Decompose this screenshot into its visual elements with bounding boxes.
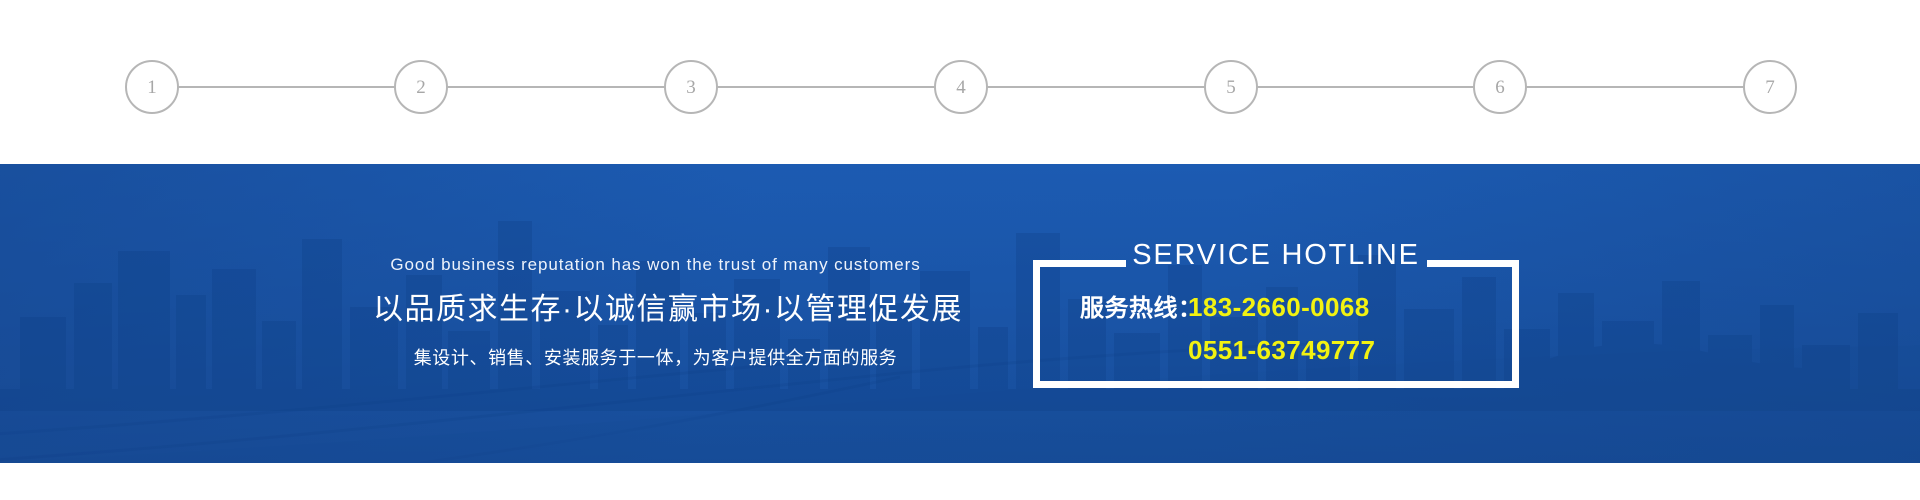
hotline-number-landline[interactable]: 0551-63749777: [1188, 337, 1375, 363]
hotline-label: 服务热线：: [1040, 297, 1188, 321]
step-number-label: 7: [1765, 78, 1775, 97]
service-hotline-title: SERVICE HOTLINE: [1033, 241, 1519, 270]
promo-banner: Good business reputation has won the tru…: [0, 164, 1920, 463]
slogan-headline: 以品质求生存·以诚信赢市场·以管理促发展: [373, 295, 938, 325]
slogan-english-line: Good business reputation has won the tru…: [373, 256, 938, 273]
page-root: 1 2 3 4 5 6 7: [0, 0, 1920, 500]
slogan-block: Good business reputation has won the tru…: [373, 256, 938, 367]
step-node-6[interactable]: 6: [1473, 60, 1527, 114]
hotline-number-list: 服务热线： 183-2660-0068 0551-63749777: [1040, 294, 1512, 363]
step-indicator: 1 2 3 4 5 6 7: [0, 0, 1920, 164]
slogan-subtitle: 集设计、销售、安装服务于一体，为客户提供全方面的服务: [373, 349, 938, 367]
frame-border-bottom: [1033, 381, 1519, 388]
road-curve-watermark-icon: [0, 343, 1920, 463]
frame-border-right: [1512, 260, 1519, 388]
hotline-row-primary: 服务热线： 183-2660-0068: [1040, 294, 1512, 321]
step-node-2[interactable]: 2: [394, 60, 448, 114]
step-number-label: 4: [956, 78, 966, 97]
frame-border-left: [1033, 260, 1040, 388]
step-number-label: 2: [416, 78, 426, 97]
step-node-7[interactable]: 7: [1743, 60, 1797, 114]
step-node-5[interactable]: 5: [1204, 60, 1258, 114]
step-number-label: 5: [1226, 78, 1236, 97]
step-number-label: 6: [1495, 78, 1505, 97]
step-node-1[interactable]: 1: [125, 60, 179, 114]
hotline-row-secondary: 0551-63749777: [1040, 337, 1512, 363]
step-number-label: 1: [147, 78, 157, 97]
step-node-3[interactable]: 3: [664, 60, 718, 114]
step-node-4[interactable]: 4: [934, 60, 988, 114]
step-number-label: 3: [686, 78, 696, 97]
hotline-number-mobile[interactable]: 183-2660-0068: [1188, 294, 1370, 320]
service-hotline-box: SERVICE HOTLINE 服务热线： 183-2660-0068 0551…: [1033, 260, 1519, 388]
